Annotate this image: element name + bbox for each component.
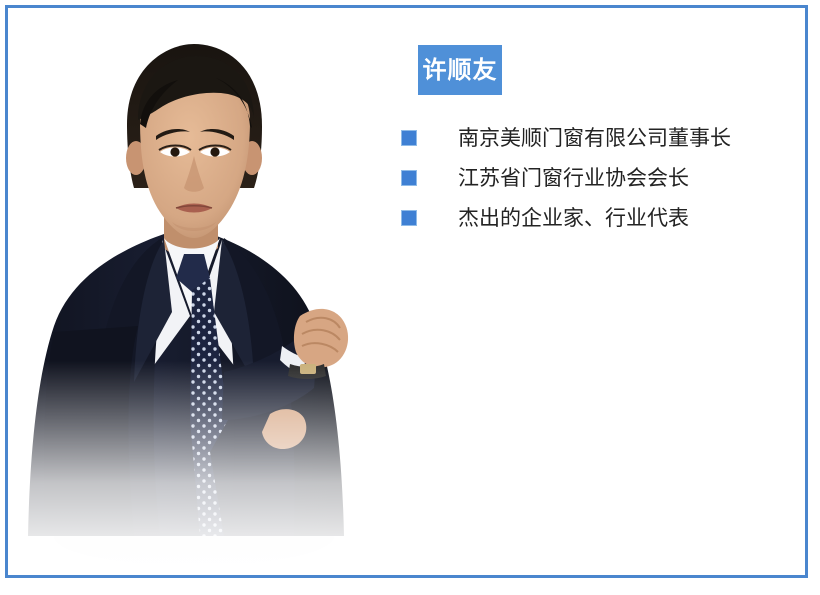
portrait-photo bbox=[14, 16, 374, 572]
portrait-image bbox=[14, 16, 374, 572]
bullet-square-icon bbox=[401, 130, 417, 146]
list-item: 江苏省门窗行业协会会长 bbox=[401, 158, 801, 198]
credential-label: 杰出的企业家、行业代表 bbox=[458, 208, 689, 229]
bullet-square-icon bbox=[401, 210, 417, 226]
name-badge: 许顺友 bbox=[418, 45, 502, 95]
list-item: 南京美顺门窗有限公司董事长 bbox=[401, 118, 801, 158]
credentials-list: 南京美顺门窗有限公司董事长 江苏省门窗行业协会会长 杰出的企业家、行业代表 bbox=[401, 118, 801, 238]
credential-label: 南京美顺门窗有限公司董事长 bbox=[458, 128, 731, 149]
credential-label: 江苏省门窗行业协会会长 bbox=[458, 168, 689, 189]
person-name: 许顺友 bbox=[423, 58, 498, 82]
bullet-square-icon bbox=[401, 170, 417, 186]
profile-slide: 许顺友 南京美顺门窗有限公司董事长 江苏省门窗行业协会会长 杰出的企业家、行业代… bbox=[0, 0, 820, 595]
list-item: 杰出的企业家、行业代表 bbox=[401, 198, 801, 238]
